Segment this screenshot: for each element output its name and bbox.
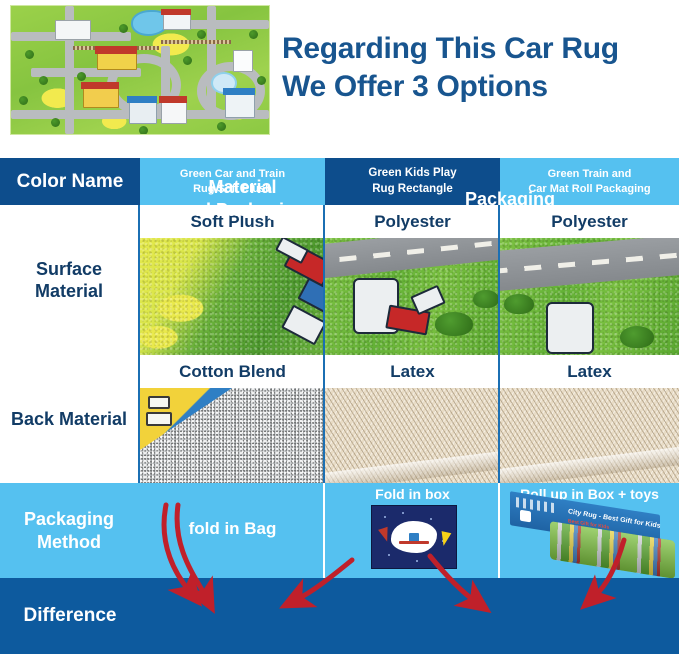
rug-building	[97, 52, 137, 70]
rug-corner-detail	[148, 396, 170, 409]
hero-banner: Regarding This Car Rug We Offer 3 Option…	[0, 0, 679, 150]
rug-tree	[39, 76, 48, 85]
difference-callout-left-line-2: and Packaging	[155, 199, 330, 222]
column-separator	[323, 483, 325, 578]
back-value-col-2: Latex	[325, 355, 500, 388]
row-label-surface-material: Surface Material	[0, 205, 140, 355]
rug-bush	[435, 312, 473, 336]
brand-tagline-bar	[399, 541, 429, 544]
row-label-back-line-1: Back Material	[11, 408, 127, 431]
back-photo-col-3	[500, 388, 679, 483]
row-label-back-material: Back Material	[0, 355, 140, 483]
rug-tree	[77, 72, 86, 81]
rug-building	[161, 102, 187, 124]
page-title-line-2: We Offer 3 Options	[282, 68, 672, 106]
rug-church	[233, 50, 253, 72]
rug-building-roof	[159, 96, 187, 103]
surface-photo-col-2	[325, 238, 500, 355]
rug-tree	[257, 76, 266, 85]
column-separator	[498, 205, 500, 483]
packaging-text-col-2: Fold in box	[325, 486, 500, 502]
rug-building-roof	[95, 46, 137, 54]
row-label-packaging-method: Packaging Method	[0, 483, 140, 578]
rug-tree	[51, 118, 60, 127]
comparison-table: Color Name Green Car and Train Rug Soft …	[0, 158, 679, 654]
packaging-cell-col-3: Roll up in Box + toys City Rug - Best Gi…	[500, 483, 679, 578]
rug-corner-detail	[146, 412, 172, 426]
rug-tree	[119, 24, 128, 33]
hero-rug-image	[10, 5, 270, 135]
rug-tree	[197, 30, 206, 39]
rug-bush	[504, 294, 534, 314]
page-title: Regarding This Car Rug We Offer 3 Option…	[282, 30, 672, 105]
difference-callout-left: Material and Packaging	[155, 176, 330, 221]
back-value-col-1: Cotton Blend	[140, 355, 325, 388]
row-label-surface-line-2: Material	[35, 280, 103, 303]
red-bolt-icon	[378, 527, 392, 543]
rug-building-roof	[223, 88, 255, 95]
column-separator	[138, 205, 140, 483]
rug-building-roof	[81, 82, 119, 89]
packaging-cell-col-1: fold in Bag	[140, 483, 325, 578]
back-photo-col-2	[325, 388, 500, 483]
rug-tree	[19, 96, 28, 105]
rug-railway	[161, 40, 231, 44]
header-column-3-line-1: Green Train and	[528, 167, 650, 182]
rug-tree	[217, 122, 226, 131]
header-column-2-line-1: Green Kids Play	[368, 166, 456, 182]
rug-building	[163, 14, 191, 30]
yellow-bolt-icon	[439, 531, 452, 547]
header-color-name: Color Name	[0, 158, 140, 205]
box-sparkle	[388, 554, 390, 556]
box-sparkle	[384, 516, 386, 518]
row-label-surface-line-1: Surface	[35, 258, 103, 281]
difference-callout-left-line-1: Material	[155, 176, 330, 199]
row-label-packaging-line-2: Method	[24, 531, 114, 554]
box-brand-logo-icon	[520, 510, 531, 523]
back-value-col-3: Latex	[500, 355, 679, 388]
splash-shape	[391, 521, 437, 553]
rug-tree	[183, 56, 192, 65]
rug-building	[129, 102, 157, 124]
rug-bush	[473, 290, 499, 308]
back-photo-col-1	[140, 388, 325, 483]
page-title-line-1: Regarding This Car Rug	[282, 32, 619, 65]
rug-train-car	[546, 302, 594, 354]
fold-in-box-image	[371, 505, 457, 569]
box-sparkle	[416, 560, 418, 562]
rug-tree	[249, 30, 258, 39]
surface-photo-col-3	[500, 238, 679, 355]
rug-building	[55, 20, 91, 40]
packaging-text-col-1: fold in Bag	[140, 519, 325, 539]
row-label-difference: Difference	[0, 578, 140, 654]
rug-tree	[25, 50, 34, 59]
packaging-cell-col-2: Fold in box	[325, 483, 500, 578]
box-sparkle	[402, 512, 404, 514]
rug-building	[225, 94, 255, 118]
roll-packaging-image: City Rug - Best Gift for Kids Best Gift …	[510, 501, 675, 575]
rug-tree	[139, 126, 148, 135]
rug-building	[83, 88, 119, 108]
packaging-row: fold in Bag Fold in box Roll up in Box +	[140, 483, 679, 578]
surface-photo-col-1	[140, 238, 325, 355]
column-separator	[498, 483, 500, 578]
rug-bush	[620, 326, 654, 348]
difference-callout-right: Packaging	[430, 188, 590, 211]
rug-building-roof	[161, 9, 191, 15]
rug-building-roof	[127, 96, 157, 103]
row-label-packaging-line-1: Packaging	[24, 508, 114, 531]
box-sparkle	[430, 518, 432, 520]
column-separator	[323, 205, 325, 483]
